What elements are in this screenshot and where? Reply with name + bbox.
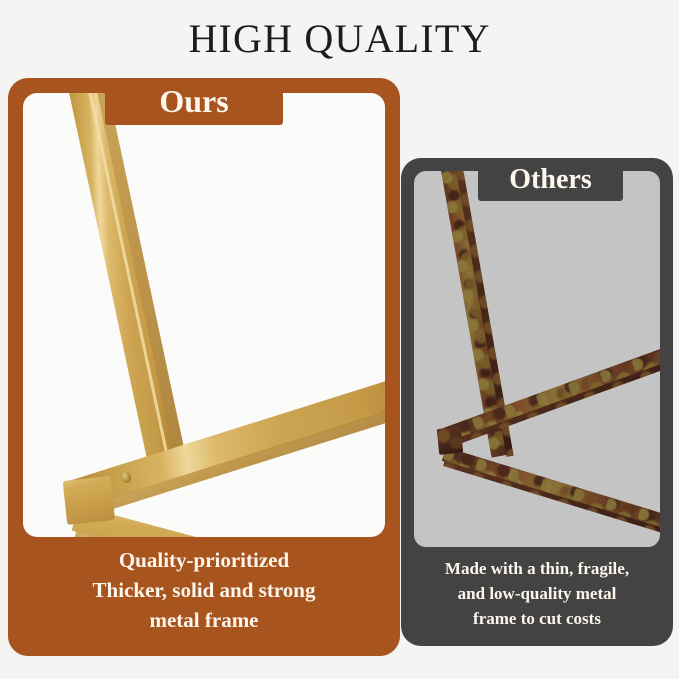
caption-line: frame to cut costs: [414, 606, 660, 631]
caption-line: Made with a thin, fragile,: [414, 556, 660, 581]
comparison-card-ours: Quality-prioritized Thicker, solid and s…: [8, 78, 400, 656]
rust-corner-joint: [437, 427, 464, 455]
caption-ours: Quality-prioritized Thicker, solid and s…: [23, 545, 385, 635]
caption-line: and low-quality metal: [414, 581, 660, 606]
rust-rail-bar: [439, 341, 660, 443]
infographic-canvas: HIGH QUALITY: [0, 0, 679, 679]
comparison-card-others: Made with a thin, fragile, and low-quali…: [401, 158, 673, 646]
caption-line: metal frame: [23, 605, 385, 635]
gold-rail-bar: [66, 370, 385, 510]
product-photo-ours: [23, 93, 385, 537]
caption-line: Quality-prioritized: [23, 545, 385, 575]
page-title: HIGH QUALITY: [0, 16, 679, 62]
gold-brace-bar: [72, 505, 385, 537]
gold-corner-joint: [63, 476, 115, 525]
gold-frame-illustration: [23, 93, 385, 537]
caption-others: Made with a thin, fragile, and low-quali…: [414, 556, 660, 631]
product-photo-others: [414, 171, 660, 547]
rust-brace-shadow-face: [443, 461, 660, 536]
rusted-frame-illustration: [414, 171, 660, 547]
panel-tab-ours: Ours: [105, 78, 283, 125]
panel-tab-others: Others: [478, 158, 623, 201]
caption-line: Thicker, solid and strong: [23, 575, 385, 605]
